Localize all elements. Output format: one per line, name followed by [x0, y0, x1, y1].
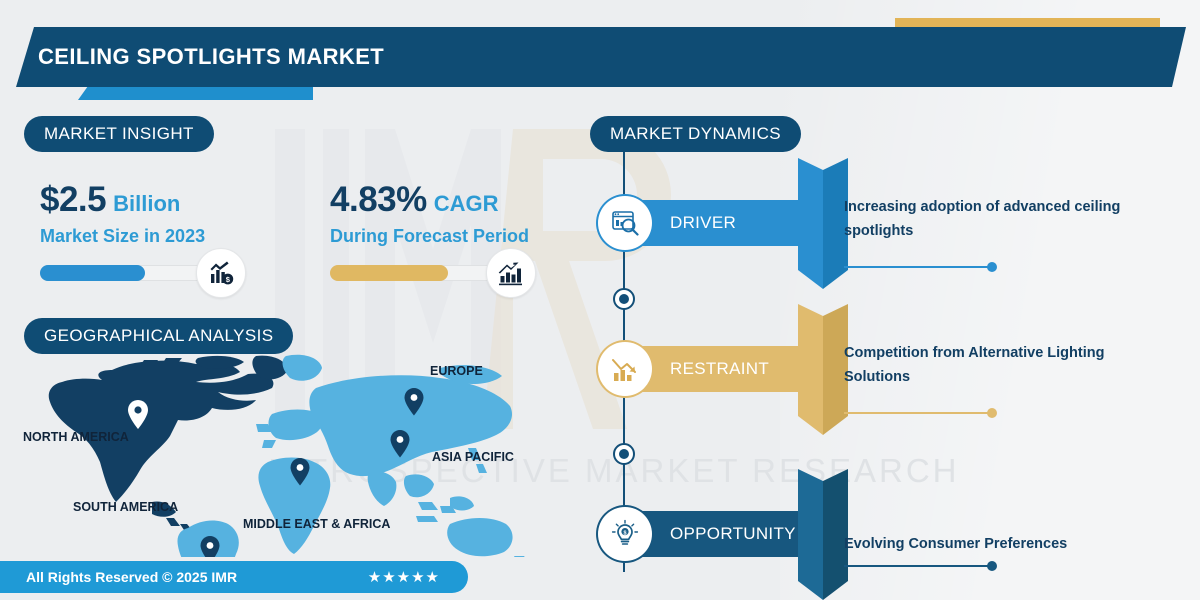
kpi-caption: During Forecast Period	[330, 226, 529, 247]
footer-bar: All Rights Reserved © 2025 IMR ★★★★★	[0, 561, 468, 593]
world-map: NORTH AMERICA SOUTH AMERICA MIDDLE EAST …	[20, 352, 565, 557]
infographic-canvas: INTROSPECTIVE MARKET RESEARCH CEILING SP…	[0, 0, 1200, 600]
kpi-value: 4.83%	[330, 180, 427, 219]
map-label-south-america: SOUTH AMERICA	[73, 500, 178, 514]
dynamics-description: Evolving Consumer Preferences	[844, 533, 1174, 557]
dynamics-label: OPPORTUNITY	[670, 524, 796, 544]
dynamics-label: RESTRAINT	[670, 359, 769, 379]
connector-end-dot	[987, 408, 997, 418]
dynamics-band: OPPORTUNITY	[624, 511, 824, 557]
progress-fill	[330, 265, 448, 281]
kpi-caption: Market Size in 2023	[40, 226, 220, 247]
map-label-north-america: NORTH AMERICA	[23, 430, 129, 444]
ribbon-arrow-driver	[798, 158, 848, 289]
header-underline-accent	[78, 86, 313, 100]
dynamics-band: RESTRAINT	[624, 346, 824, 392]
timeline-node-icon	[613, 443, 635, 465]
dynamics-description: Increasing adoption of advanced ceiling …	[844, 196, 1174, 244]
map-label-middle-east-africa: MIDDLE EAST & AFRICA	[243, 517, 390, 531]
declining-bar-chart-icon	[598, 342, 652, 396]
connector-end-dot	[987, 561, 997, 571]
copyright-text: All Rights Reserved © 2025 IMR	[26, 569, 237, 585]
dynamics-connector-line	[844, 266, 992, 268]
ribbon-arrow-opportunity	[798, 469, 848, 600]
section-chip-market-dynamics: MARKET DYNAMICS	[590, 116, 801, 152]
ribbon-arrow-restraint	[798, 304, 848, 435]
kpi-unit: CAGR	[434, 191, 499, 216]
kpi-progress-bar: $	[40, 265, 220, 281]
lightbulb-dollar-icon: $	[598, 507, 652, 561]
dynamics-connector-line	[844, 412, 992, 414]
growth-arrow-chart-icon	[486, 248, 536, 298]
dynamics-connector-line	[844, 565, 992, 567]
section-chip-market-insight: MARKET INSIGHT	[24, 116, 214, 152]
kpi-value: $2.5	[40, 180, 106, 219]
map-label-europe: EUROPE	[430, 364, 483, 378]
document-magnifier-icon	[598, 196, 652, 250]
map-label-asia-pacific: ASIA PACIFIC	[432, 450, 514, 464]
progress-fill	[40, 265, 145, 281]
page-title: CEILING SPOTLIGHTS MARKET	[16, 44, 384, 70]
kpi-unit: Billion	[113, 191, 180, 216]
kpi-progress-bar	[330, 265, 510, 281]
svg-text:$: $	[624, 530, 627, 536]
kpi-cagr: 4.83%CAGR During Forecast Period	[330, 182, 529, 281]
dynamics-label: DRIVER	[670, 213, 736, 233]
bar-chart-dollar-icon: $	[196, 248, 246, 298]
timeline-node-icon	[613, 288, 635, 310]
dynamics-band: DRIVER	[624, 200, 824, 246]
section-chip-geographical-analysis: GEOGRAPHICAL ANALYSIS	[24, 318, 293, 354]
header-bar: CEILING SPOTLIGHTS MARKET	[16, 27, 1186, 87]
kpi-market-size: $2.5Billion Market Size in 2023 $	[40, 182, 220, 281]
dynamics-description: Competition from Alternative Lighting So…	[844, 342, 1174, 390]
rating-stars-icon: ★★★★★	[368, 568, 440, 586]
connector-end-dot	[987, 262, 997, 272]
